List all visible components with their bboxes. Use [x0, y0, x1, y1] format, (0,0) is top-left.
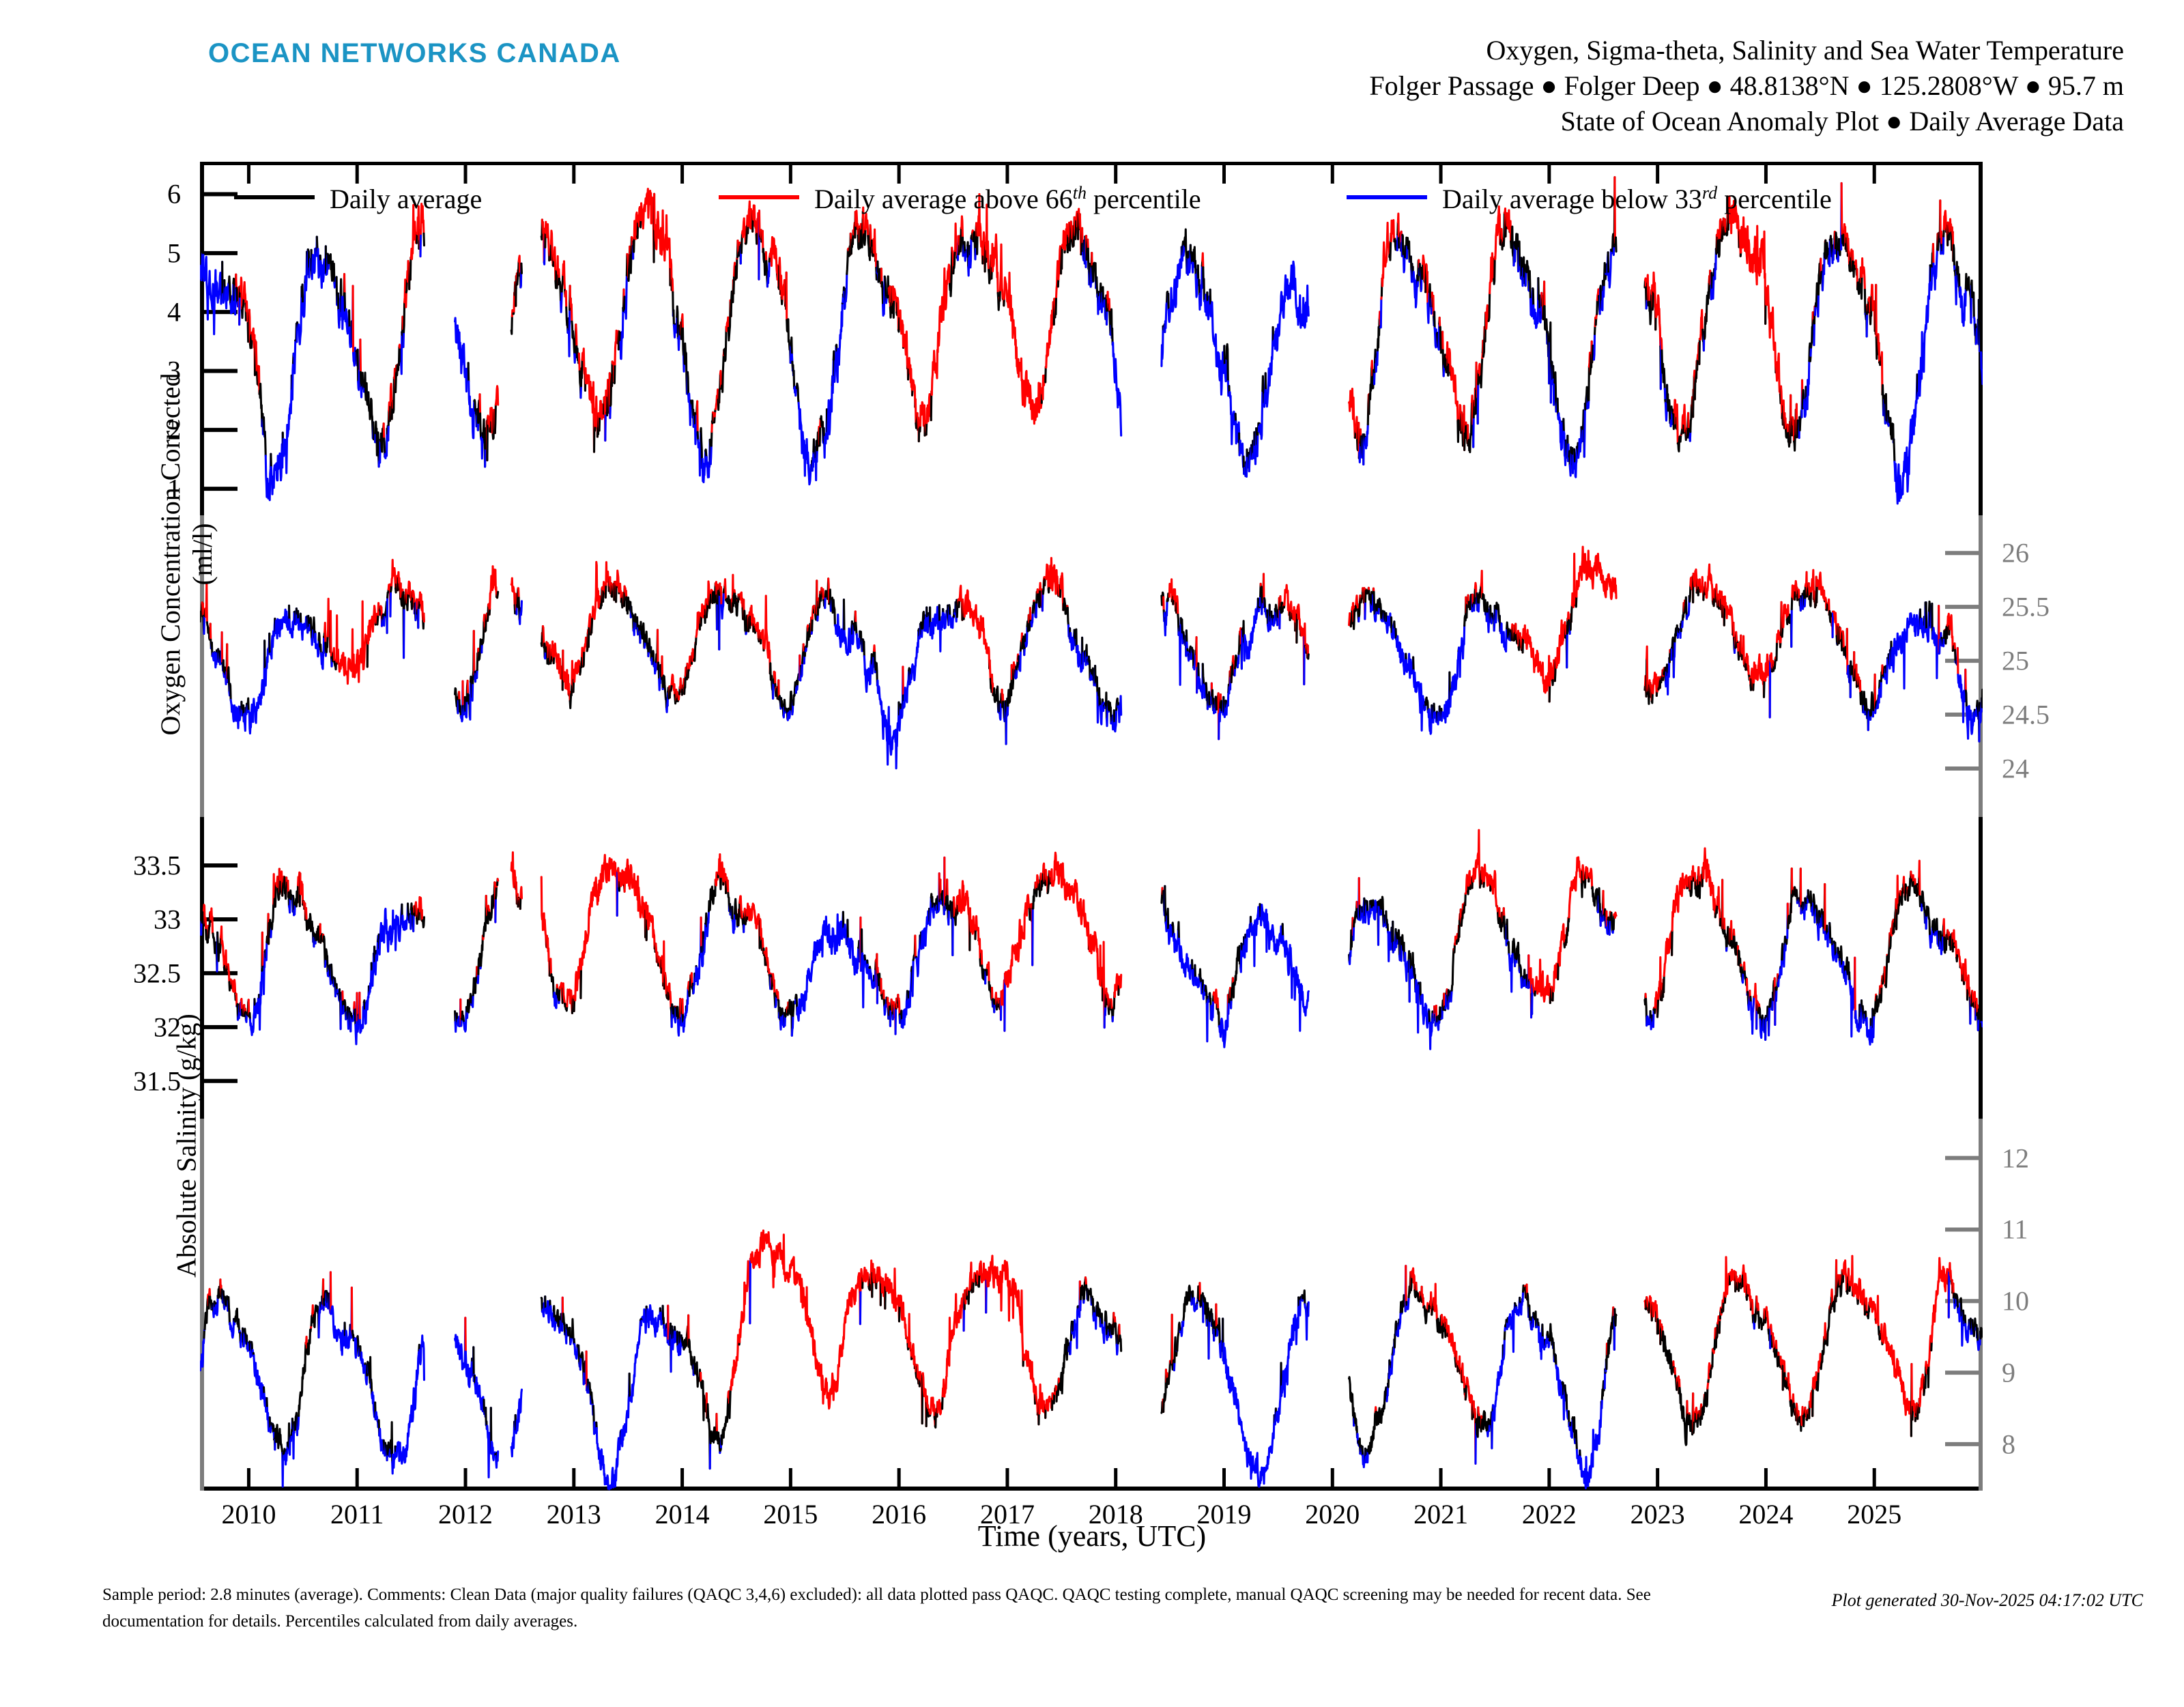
- y-tick-label-salinity: 32: [154, 1011, 181, 1043]
- x-tick-label: 2013: [547, 1498, 601, 1530]
- y-tick-label-oxygen: 2: [167, 414, 181, 446]
- y-tick-label-temperature: 12: [2002, 1142, 2029, 1174]
- x-tick-label: 2020: [1305, 1498, 1360, 1530]
- x-tick-label: 2017: [980, 1498, 1035, 1530]
- y-tick-label-oxygen: 5: [167, 237, 181, 269]
- y-tick-label-salinity: 31.5: [133, 1065, 181, 1097]
- multi-panel-timeseries-chart: Daily averageDaily average above 66th pe…: [200, 162, 1983, 1491]
- x-tick-label: 2015: [763, 1498, 818, 1530]
- x-tick-label: 2018: [1089, 1498, 1143, 1530]
- title-line-1: Oxygen, Sigma-theta, Salinity and Sea Wa…: [1369, 33, 2124, 68]
- plot-area: Daily averageDaily average above 66th pe…: [200, 162, 1983, 1491]
- generated-timestamp: Plot generated 30-Nov-2025 04:17:02 UTC: [1832, 1590, 2143, 1611]
- svg-text:Daily average above 66th perce: Daily average above 66th percentile: [814, 183, 1201, 215]
- y-tick-label-temperature: 11: [2002, 1214, 2028, 1246]
- y-tick-label-oxygen: 3: [167, 355, 181, 387]
- svg-text:Daily average: Daily average: [330, 184, 482, 214]
- title-block: Oxygen, Sigma-theta, Salinity and Sea Wa…: [1369, 33, 2124, 139]
- y-tick-label-sigma_theta: 25.5: [2002, 591, 2050, 623]
- x-tick-label: 2019: [1197, 1498, 1252, 1530]
- y-tick-label-sigma_theta: 24.5: [2002, 699, 2050, 731]
- y-tick-label-temperature: 9: [2002, 1357, 2015, 1389]
- title-line-2: Folger Passage ● Folger Deep ● 48.8138°N…: [1369, 68, 2124, 104]
- svg-text:Daily average below 33rd perce: Daily average below 33rd percentile: [1442, 183, 1832, 215]
- x-tick-label: 2014: [655, 1498, 710, 1530]
- x-tick-label: 2022: [1522, 1498, 1577, 1530]
- x-tick-label: 2024: [1738, 1498, 1793, 1530]
- y-tick-label-sigma_theta: 26: [2002, 537, 2029, 569]
- x-tick-label: 2012: [438, 1498, 493, 1530]
- y-tick-label-oxygen: 4: [167, 296, 181, 328]
- y-tick-label-salinity: 33: [154, 903, 181, 935]
- x-tick-label: 2010: [221, 1498, 276, 1530]
- y-tick-label-oxygen: 1: [167, 473, 181, 505]
- y-tick-label-sigma_theta: 25: [2002, 645, 2029, 677]
- y-tick-label-temperature: 10: [2002, 1285, 2029, 1317]
- x-tick-label: 2011: [330, 1498, 384, 1530]
- title-line-3: State of Ocean Anomaly Plot ● Daily Aver…: [1369, 104, 2124, 139]
- x-tick-label: 2023: [1630, 1498, 1685, 1530]
- y-tick-label-salinity: 33.5: [133, 850, 181, 882]
- footer-note: Sample period: 2.8 minutes (average). Co…: [102, 1582, 1693, 1635]
- x-tick-label: 2021: [1413, 1498, 1468, 1530]
- chart-legend: Daily averageDaily average above 66th pe…: [234, 183, 1832, 215]
- y-tick-label-salinity: 32.5: [133, 957, 181, 989]
- onc-logo: OCEAN NETWORKS CANADA: [208, 38, 621, 69]
- x-tick-label: 2025: [1847, 1498, 1901, 1530]
- y-tick-label-sigma_theta: 24: [2002, 752, 2029, 784]
- x-tick-label: 2016: [872, 1498, 926, 1530]
- y-tick-label-temperature: 8: [2002, 1428, 2015, 1460]
- y-tick-label-oxygen: 6: [167, 178, 181, 210]
